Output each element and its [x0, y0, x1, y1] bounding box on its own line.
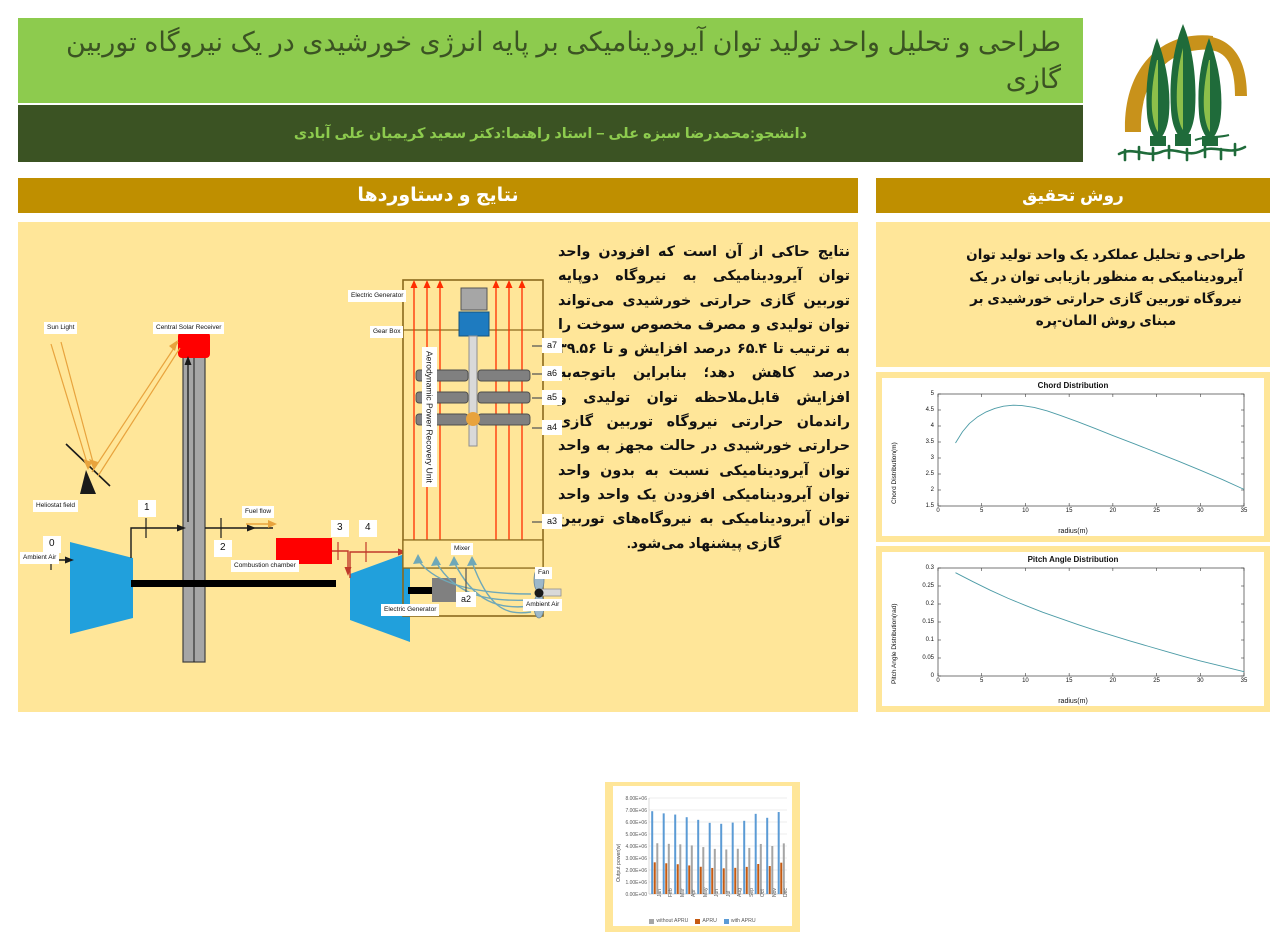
- chart-y-tick: 4.00E+06: [613, 844, 647, 850]
- chart-legend-swatch: [649, 919, 654, 924]
- diagram-label-gear-box: Gear Box: [370, 326, 403, 338]
- diagram-label-fan: Fan: [535, 567, 552, 579]
- diagram-station-a6: a6: [542, 366, 562, 381]
- plant-schematic-svg: [18, 222, 563, 712]
- chart-legend-item: with APRU: [724, 918, 756, 924]
- diagram-label-sun-light: Sun Light: [44, 322, 77, 334]
- chart-y-tick: 0.00E+00: [613, 892, 647, 898]
- diagram-station-a5: a5: [542, 390, 562, 405]
- plot-y-tick: 4.5: [912, 407, 934, 413]
- pitch-plot-x-label: radius(m): [882, 698, 1264, 705]
- chart-x-tick: Oct: [760, 889, 766, 897]
- plot-x-tick: 15: [1060, 508, 1078, 514]
- plot-x-tick: 10: [1016, 678, 1034, 684]
- section-header-results: نتایج و دستاوردها: [18, 178, 858, 213]
- plot-x-tick: 0: [929, 508, 947, 514]
- pitch-plot-panel: Pitch Angle Distribution Pitch Angle Dis…: [876, 546, 1270, 712]
- plot-x-tick: 35: [1235, 678, 1253, 684]
- plot-y-tick: 0.15: [912, 619, 934, 625]
- plot-x-tick: 0: [929, 678, 947, 684]
- diagram-label-electric-generator-bottom: Electric Generator: [381, 604, 439, 616]
- chart-x-tick: Jun: [714, 889, 720, 897]
- plot-y-tick: 0.05: [912, 655, 934, 661]
- plot-y-tick: 3: [912, 455, 934, 461]
- diagram-label-apru: Aerodynamic Power Recovery Unit: [422, 347, 437, 487]
- diagram-station-a7: a7: [542, 338, 562, 353]
- poster-authors-bar: دانشجو:محمدرضا سبزه علی – استاد راهنما:د…: [18, 105, 1083, 162]
- diagram-station-a3: a3: [542, 514, 562, 529]
- plot-y-tick: 0.25: [912, 583, 934, 589]
- diagram-station-2: 2: [214, 540, 232, 557]
- section-header-method: روش تحقیق: [876, 178, 1270, 213]
- plot-x-tick: 35: [1235, 508, 1253, 514]
- diagram-station-3: 3: [331, 520, 349, 537]
- plot-y-tick: 0.2: [912, 601, 934, 607]
- plot-x-tick: 30: [1191, 508, 1209, 514]
- diagram-label-ambient-air-right: Ambient Air: [523, 599, 562, 611]
- plot-y-tick: 5: [912, 391, 934, 397]
- section-header-results-label: نتایج و دستاوردها: [357, 184, 518, 207]
- poster-title-bar: طراحی و تحلیل واحد تولید توان آیرودینامی…: [18, 18, 1083, 103]
- chart-x-tick: Sep: [749, 888, 755, 897]
- chart-y-tick: 8.00E+06: [613, 796, 647, 802]
- monthly-output-power-chart: Output power(w) 0.00E+001.00E+062.00E+06…: [605, 782, 800, 932]
- chart-x-tick: Dec: [783, 888, 789, 897]
- diagram-label-combustion-chamber: Combustion chamber: [231, 560, 299, 572]
- monthly-output-power-chart-plot: Output power(w) 0.00E+001.00E+062.00E+06…: [613, 786, 792, 926]
- method-panel: طراحی و تحلیل عملکرد یک واحد تولید توان …: [876, 222, 1270, 367]
- chart-legend-item: APRU: [695, 918, 716, 924]
- chart-legend-label: without APRU: [656, 918, 688, 924]
- chart-legend-label: APRU: [702, 918, 716, 924]
- chart-x-tick: Nov: [772, 888, 778, 897]
- diagram-label-fuel-flow: Fuel flow: [242, 506, 274, 518]
- authors-text: دانشجو:محمدرضا سبزه علی – استاد راهنما:د…: [294, 126, 807, 142]
- plot-x-tick: 25: [1148, 678, 1166, 684]
- plot-y-tick: 3.5: [912, 439, 934, 445]
- chart-y-tick: 3.00E+06: [613, 856, 647, 862]
- chart-y-tick: 2.00E+06: [613, 868, 647, 874]
- chart-x-tick: Jan: [657, 889, 663, 897]
- chart-legend-item: without APRU: [649, 918, 688, 924]
- pitch-plot-y-label: Pitch Angle Distribution(rad): [891, 603, 898, 684]
- chart-y-tick: 7.00E+06: [613, 808, 647, 814]
- plot-x-tick: 15: [1060, 678, 1078, 684]
- plot-x-tick: 20: [1104, 678, 1122, 684]
- plot-x-tick: 25: [1148, 508, 1166, 514]
- diagram-label-ambient-air-left: Ambient Air: [20, 552, 59, 564]
- diagram-label-electric-generator-top: Electric Generator: [348, 290, 406, 302]
- diagram-station-1: 1: [138, 500, 156, 517]
- section-header-method-label: روش تحقیق: [1022, 186, 1124, 206]
- chart-x-tick: Mar: [680, 888, 686, 897]
- chord-plot-panel: Chord Distribution Chord Distribution(m)…: [876, 372, 1270, 542]
- method-body-text: طراحی و تحلیل عملکرد یک واحد تولید توان …: [956, 244, 1256, 331]
- chord-plot-title: Chord Distribution: [882, 381, 1264, 390]
- plot-y-tick: 2: [912, 487, 934, 493]
- plot-y-tick: 4: [912, 423, 934, 429]
- chart-x-tick: Apr: [691, 889, 697, 897]
- chart-legend-label: with APRU: [731, 918, 756, 924]
- chart-y-tick: 6.00E+06: [613, 820, 647, 826]
- plant-schematic-diagram: Sun Light Central Solar Receiver Heliost…: [18, 222, 563, 712]
- plot-y-tick: 2.5: [912, 471, 934, 477]
- diagram-label-central-solar-receiver: Central Solar Receiver: [153, 322, 224, 334]
- chord-plot-x-label: radius(m): [882, 528, 1264, 535]
- diagram-label-mixer: Mixer: [451, 543, 473, 555]
- diagram-station-a4: a4: [542, 420, 562, 435]
- chart-legend: with APRUAPRUwithout APRU: [613, 918, 792, 924]
- diagram-station-a2: a2: [456, 592, 476, 607]
- pitch-angle-distribution-plot: Pitch Angle Distribution Pitch Angle Dis…: [882, 552, 1264, 706]
- chart-x-tick: Feb: [668, 888, 674, 897]
- plot-y-tick: 0.1: [912, 637, 934, 643]
- plot-x-tick: 30: [1191, 678, 1209, 684]
- page-title: طراحی و تحلیل واحد تولید توان آیرودینامی…: [18, 24, 1083, 96]
- plot-x-tick: 10: [1016, 508, 1034, 514]
- diagram-station-0: 0: [43, 536, 61, 553]
- chart-y-tick: 1.00E+06: [613, 880, 647, 886]
- plot-x-tick: 20: [1104, 508, 1122, 514]
- chord-plot-y-label: Chord Distribution(m): [891, 442, 898, 504]
- plot-x-tick: 5: [973, 508, 991, 514]
- plot-x-tick: 5: [973, 678, 991, 684]
- chart-legend-swatch: [695, 919, 700, 924]
- plot-y-tick: 0.3: [912, 565, 934, 571]
- university-logo-icon: [1095, 4, 1270, 166]
- results-body-text: نتایج حاکی از آن است که افزودن واحد توان…: [558, 240, 850, 556]
- chart-x-tick: Aug: [737, 888, 743, 897]
- diagram-label-heliostat-field: Heliostat field: [33, 500, 78, 512]
- chart-legend-swatch: [724, 919, 729, 924]
- chart-x-tick: Jul: [726, 891, 732, 897]
- chart-x-tick: May: [703, 888, 709, 897]
- poster-header: طراحی و تحلیل واحد تولید توان آیرودینامی…: [0, 0, 1280, 168]
- results-panel: نتایج حاکی از آن است که افزودن واحد توان…: [18, 222, 858, 712]
- chord-distribution-plot: Chord Distribution Chord Distribution(m)…: [882, 378, 1264, 536]
- diagram-station-4: 4: [359, 520, 377, 537]
- chart-y-tick: 5.00E+06: [613, 832, 647, 838]
- university-logo: [1095, 4, 1270, 166]
- pitch-plot-title: Pitch Angle Distribution: [882, 555, 1264, 564]
